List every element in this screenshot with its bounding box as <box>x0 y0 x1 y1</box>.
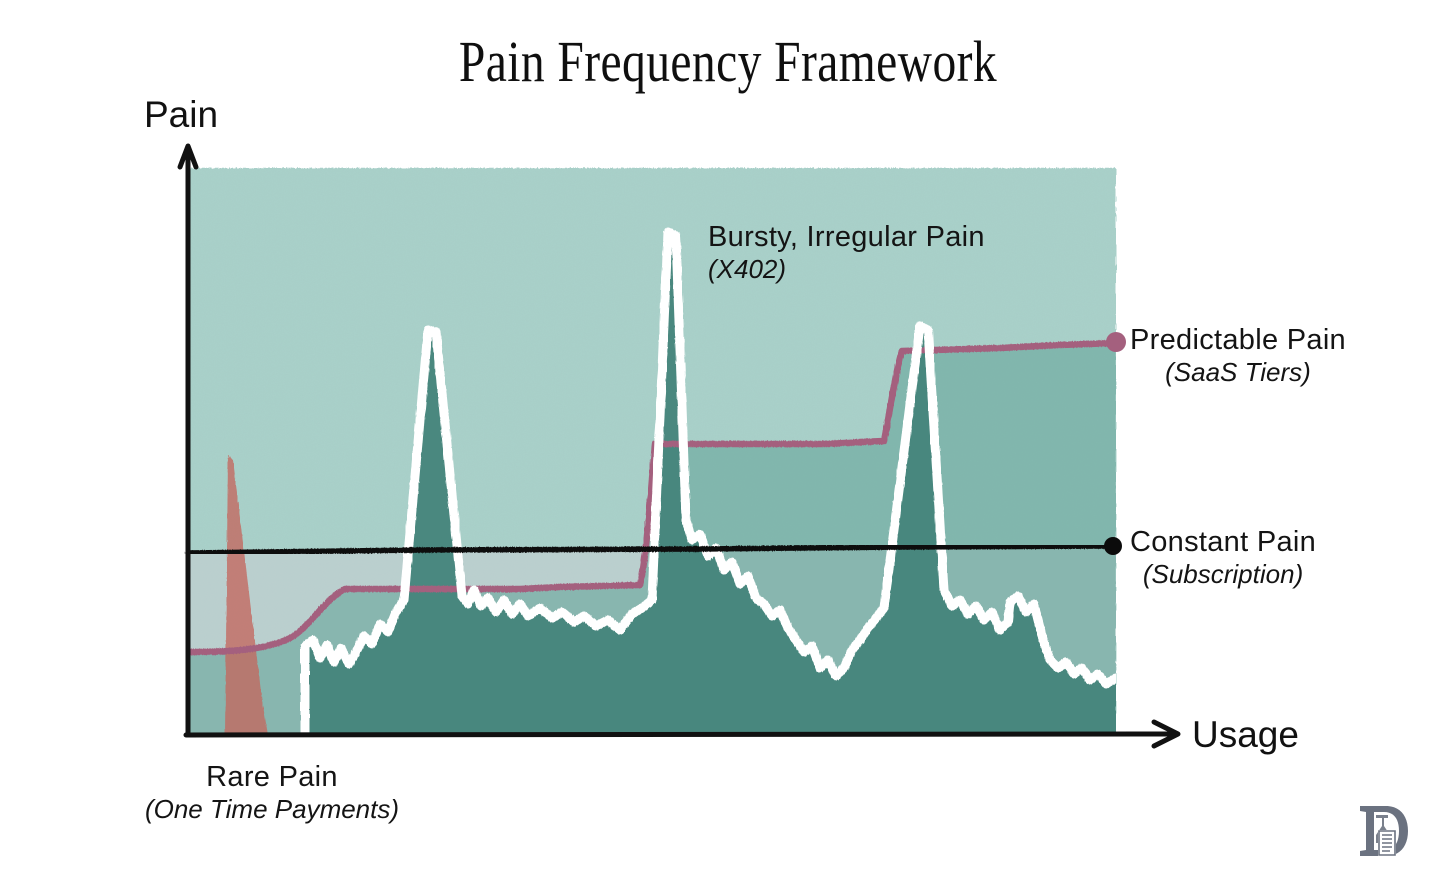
annotation-constant-title: Constant Pain <box>1130 525 1316 559</box>
annotation-predictable-pain: Predictable Pain (SaaS Tiers) <box>1130 323 1346 388</box>
publication-logo <box>1356 800 1412 862</box>
annotation-predictable-title: Predictable Pain <box>1130 323 1346 357</box>
annotation-constant-subtitle: (Subscription) <box>1130 559 1316 590</box>
annotation-rare-title: Rare Pain <box>122 760 422 794</box>
annotation-bursty-title: Bursty, Irregular Pain <box>708 220 985 254</box>
annotation-rare-pain: Rare Pain (One Time Payments) <box>122 760 422 825</box>
annotation-bursty-subtitle: (X402) <box>708 254 985 285</box>
predictable-pain-marker <box>1106 332 1126 352</box>
constant-pain-marker <box>1104 537 1122 555</box>
annotation-rare-subtitle: (One Time Payments) <box>122 794 422 825</box>
chart-canvas: Pain Frequency Framework Pain Usage <box>0 0 1456 894</box>
annotation-bursty-pain: Bursty, Irregular Pain (X402) <box>708 220 985 285</box>
annotation-constant-pain: Constant Pain (Subscription) <box>1130 525 1316 590</box>
annotation-predictable-subtitle: (SaaS Tiers) <box>1130 357 1346 388</box>
